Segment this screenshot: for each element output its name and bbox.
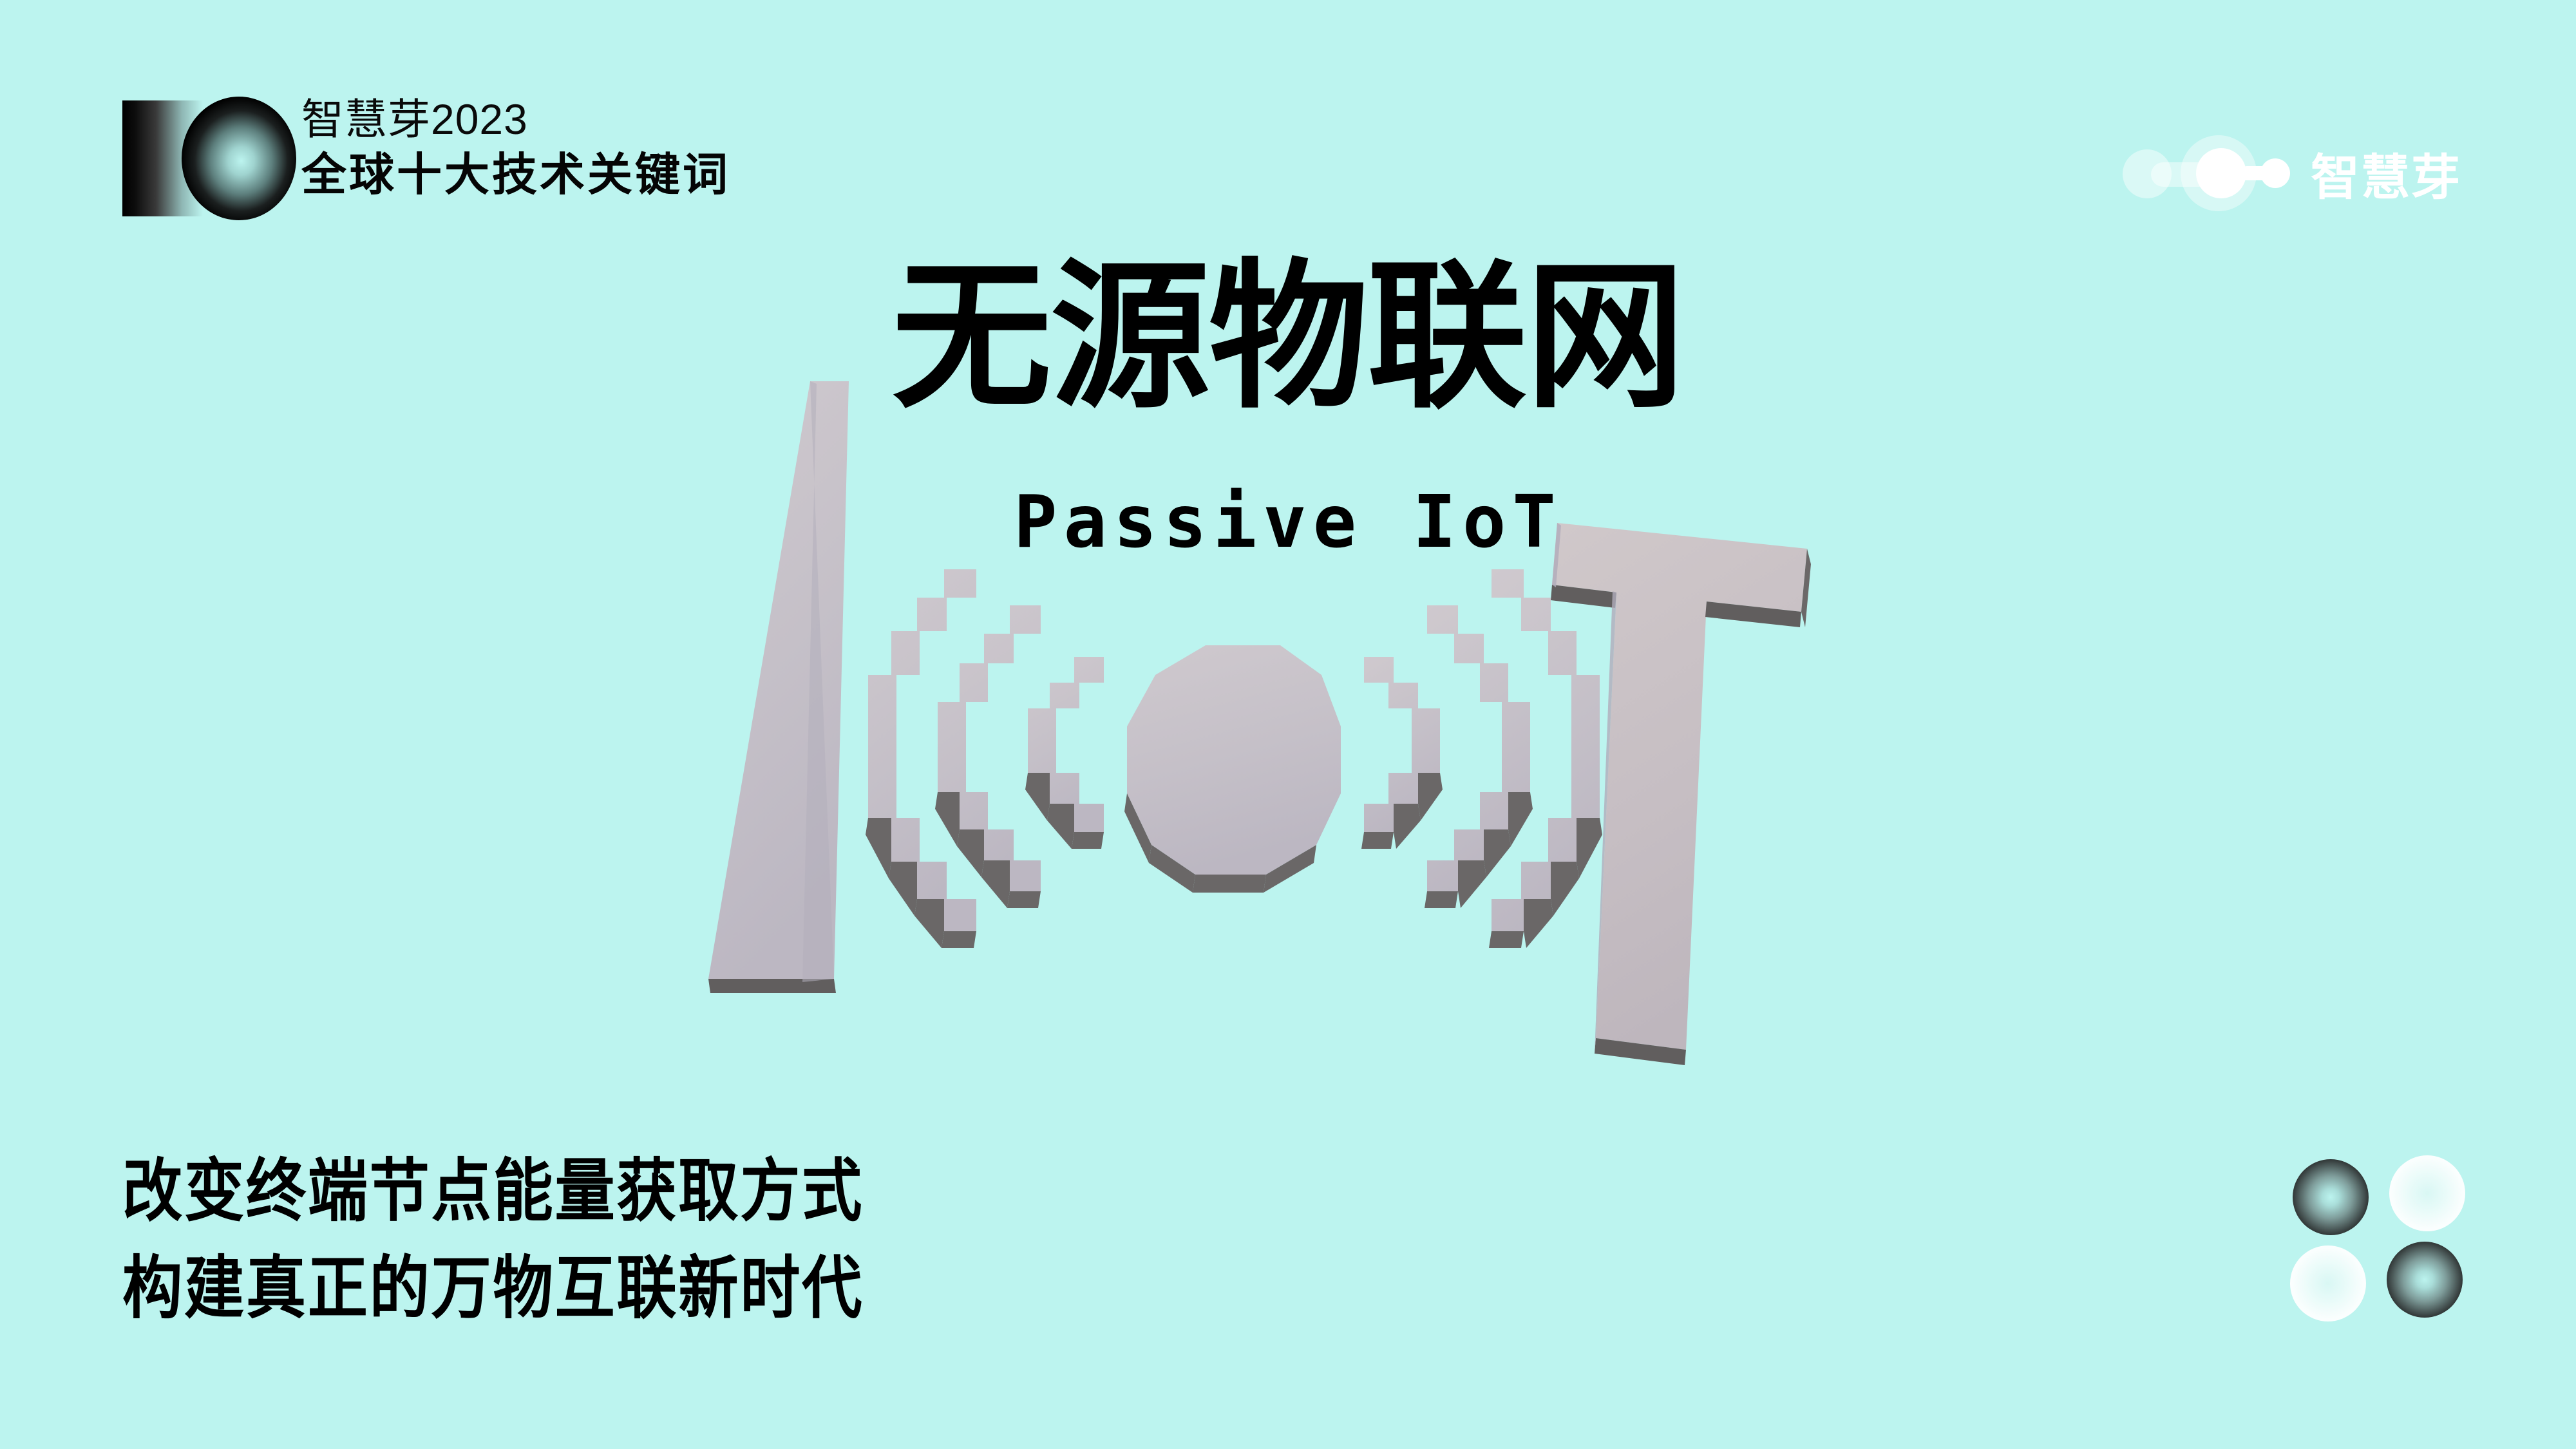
- hero-title-cn: 无源物联网: [0, 258, 2576, 417]
- signal-arc-left-3: [866, 569, 976, 948]
- brand-left-line1: 智慧芽2023: [301, 98, 730, 140]
- signal-arc-left-2: [935, 605, 1041, 908]
- brand-right-wordmark: 智慧芽: [2311, 138, 2461, 209]
- signal-arc-right-3: [1489, 569, 1602, 948]
- signal-arc-right-1: [1361, 657, 1443, 849]
- poster-canvas: 智慧芽2023 全球十大技术关键词 智慧芽: [0, 0, 2576, 1449]
- tagline-line-2: 构建真正的万物互联新时代: [122, 1240, 864, 1338]
- wireless-signal-icon-3d: [866, 569, 1602, 948]
- letter-T-3d: [1551, 523, 1811, 1065]
- brand-left-line2: 全球十大技术关键词: [301, 152, 730, 197]
- brand-left-text-block: 智慧芽2023 全球十大技术关键词: [301, 97, 730, 197]
- decor-dot-3: [2290, 1245, 2366, 1321]
- logo-node-solid: [2196, 148, 2246, 198]
- brand-lockup-left: 智慧芽2023 全球十大技术关键词: [122, 97, 730, 219]
- decor-dot-2: [2389, 1155, 2465, 1231]
- logo-node-dot: [2260, 158, 2290, 188]
- tagline-line-1: 改变终端节点能量获取方式: [122, 1143, 864, 1240]
- tagline-block: 改变终端节点能量获取方式 构建真正的万物互联新时代: [122, 1143, 965, 1337]
- digit-zero-sphere-icon: [182, 97, 296, 220]
- brand-lockup-right: 智慧芽: [2114, 126, 2461, 220]
- signal-arc-left-1: [1025, 657, 1104, 849]
- hero-title-en: Passive IoT: [0, 486, 2576, 558]
- ten-mark-icon: [122, 97, 277, 219]
- signal-arc-right-2: [1425, 605, 1533, 908]
- decor-dot-4: [2387, 1242, 2463, 1318]
- decor-dot-1: [2293, 1159, 2369, 1235]
- letter-I-3d: [708, 381, 849, 993]
- molecule-node-logo-icon: [2114, 126, 2302, 220]
- decor-dot-cluster: [2293, 1159, 2473, 1320]
- signal-core-node: [1124, 645, 1341, 893]
